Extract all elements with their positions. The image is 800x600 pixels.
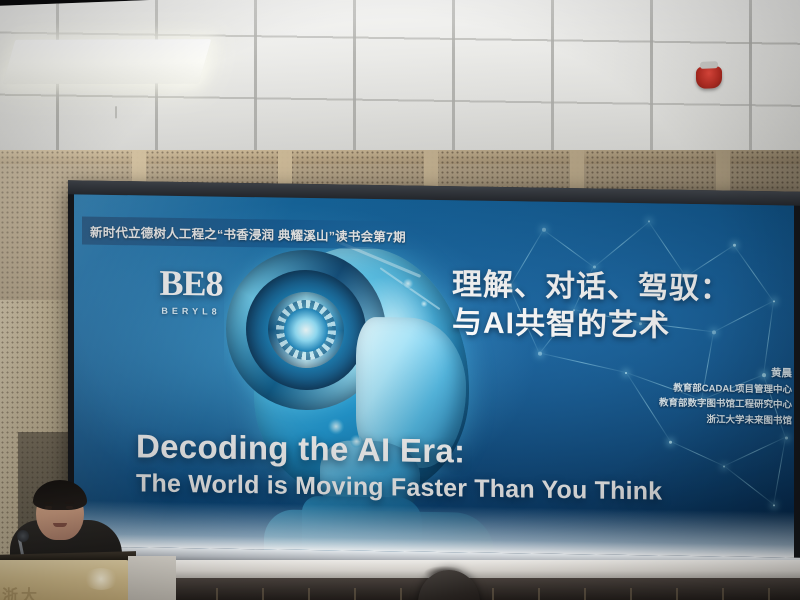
network-node — [785, 436, 788, 439]
network-edge — [543, 230, 594, 268]
lectern: 浙大 — [0, 560, 132, 600]
front-rail — [170, 560, 800, 578]
beryl8-logo: BE8 BERYL8 — [136, 261, 246, 317]
network-node — [542, 228, 546, 232]
robot-detail-1 — [402, 277, 414, 289]
lectern-text: 浙大 — [2, 582, 128, 600]
slide-credits: 黄晨 教育部CADAL项目管理中心 教育部数字图书馆工程研究中心 浙江大学未来图… — [474, 361, 792, 429]
lecture-hall-photo: BE8 BERYL8 新时代立德树人工程之“书香浸润 典耀溪山”读书会第7期 理… — [0, 0, 800, 600]
projection-screen-frame: BE8 BERYL8 新时代立德树人工程之“书香浸润 典耀溪山”读书会第7期 理… — [68, 180, 800, 577]
network-node — [648, 220, 651, 223]
logo-mark: BE8 — [136, 261, 246, 305]
presenter-brow-right — [65, 502, 74, 504]
slide-chinese-title: 理解、对话、驾驭： 与AI共智的艺术 — [452, 266, 792, 348]
robot-detail-2 — [420, 300, 428, 308]
network-edge — [594, 221, 650, 267]
slide-banner-text: 新时代立德树人工程之“书香浸润 典耀溪山”读书会第7期 — [82, 221, 406, 245]
front-rail-slats — [170, 588, 800, 600]
presenter-mouth — [53, 523, 67, 527]
presenter-hair — [33, 480, 87, 510]
chinese-title-line-2: 与AI共智的艺术 — [452, 305, 792, 349]
presenter-brow-left — [44, 502, 53, 504]
robot-ear-core — [284, 308, 328, 353]
side-cabinet — [128, 556, 176, 600]
network-node — [538, 352, 542, 356]
network-edge — [648, 221, 686, 276]
presenter-eye-left — [45, 506, 52, 509]
chinese-title-line-1: 理解、对话、驾驭： — [452, 266, 792, 310]
network-node — [733, 243, 736, 246]
logo-subtext: BERYL8 — [136, 305, 246, 317]
robot-body — [264, 509, 494, 553]
slide-banner: 新时代立德树人工程之“书香浸润 典耀溪山”读书会第7期 — [82, 216, 454, 250]
projection-screen: BE8 BERYL8 新时代立德树人工程之“书香浸润 典耀溪山”读书会第7期 理… — [74, 194, 794, 557]
presenter-eye-right — [66, 506, 73, 509]
microphone-icon — [17, 530, 29, 542]
